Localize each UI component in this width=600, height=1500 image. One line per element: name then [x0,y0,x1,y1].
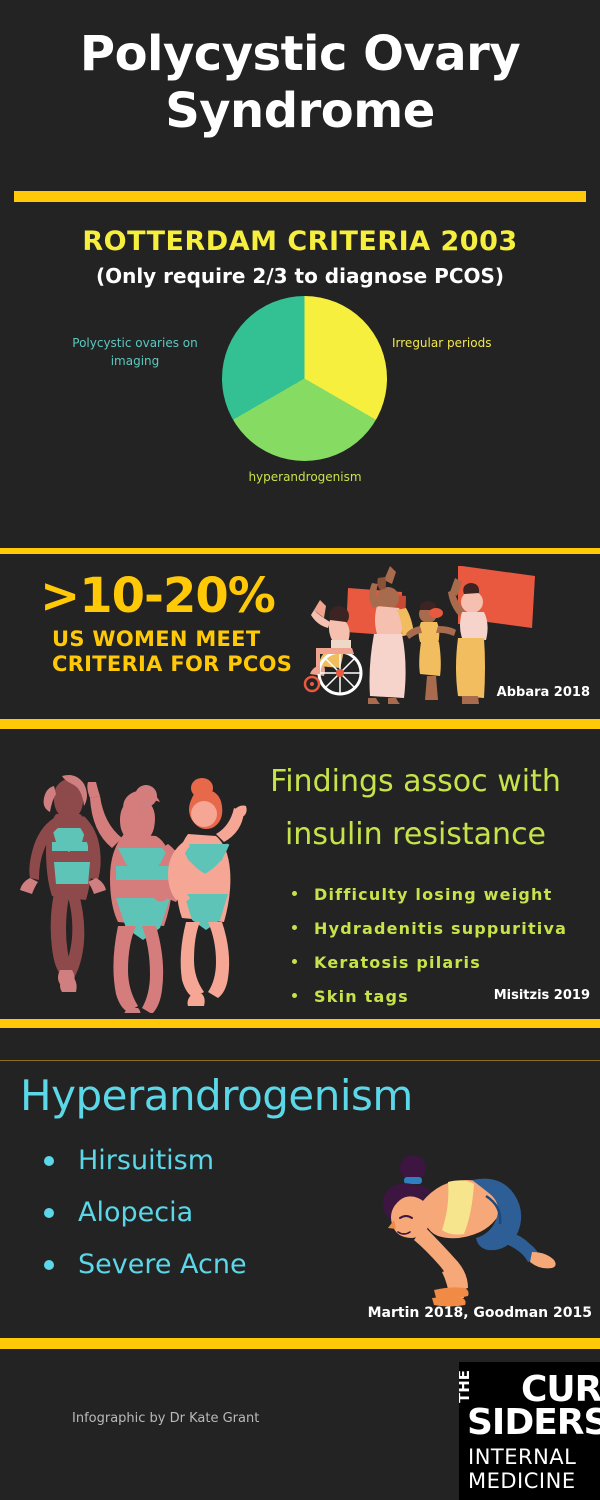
list-item: Hydradenitis suppuritiva [290,912,567,946]
curbsiders-logo: THE CURB SIDERS INTERNAL MEDICINE [459,1362,600,1500]
infographic-page: Polycystic Ovary Syndrome ROTTERDAM CRIT… [0,0,600,1500]
insulin-resistance-heading: Findings assoc with insulin resistance [238,755,593,861]
citation-abbara: Abbara 2018 [497,685,590,700]
insulin-heading-line-2: insulin resistance [238,808,593,861]
rotterdam-pie-chart [222,296,387,461]
logo-the-text: THE [459,1369,470,1403]
pie-label-polycystic-ovaries: Polycystic ovaries on imaging [50,334,220,370]
list-item-label: Skin tags [314,987,409,1006]
divider-bar-3 [0,719,600,729]
hyperandrogenism-list: Hirsuitism Alopecia Severe Acne [38,1135,247,1291]
list-item: Severe Acne [38,1239,247,1291]
list-item-label: Severe Acne [78,1249,247,1280]
rotterdam-heading: ROTTERDAM CRITERIA 2003 [0,226,600,257]
divider-thin-line [0,1060,600,1061]
title-line-1: Polycystic Ovary [0,26,600,83]
logo-siders-text: SIDERS [467,1406,600,1440]
citation-martin-goodman: Martin 2018, Goodman 2015 [368,1305,592,1321]
list-item-label: Difficulty losing weight [314,885,553,904]
bullet-icon [292,891,297,896]
divider-bar-5 [0,1338,600,1349]
stat-description-line-1: US WOMEN MEET [52,627,292,652]
list-item: Difficulty losing weight [290,878,567,912]
insulin-heading-line-1: Findings assoc with [238,755,593,808]
stat-percentage: >10-20% [40,570,275,622]
bullet-icon [44,1260,54,1270]
list-item: Hirsuitism [38,1135,247,1187]
stat-description: US WOMEN MEET CRITERIA FOR PCOS [52,627,292,677]
yoga-crow-pose-illustration [372,1122,582,1312]
dancing-women-illustration [12,758,257,1013]
divider-bar-1 [14,191,586,202]
divider-bar-4 [0,1019,600,1028]
logo-medicine-text: MEDICINE [468,1470,576,1493]
bullet-icon [44,1156,54,1166]
hyperandrogenism-heading: Hyperandrogenism [20,1073,413,1119]
page-title: Polycystic Ovary Syndrome [0,26,600,140]
logo-internal-text: INTERNAL [468,1446,576,1469]
bullet-icon [292,993,297,998]
byline: Infographic by Dr Kate Grant [72,1411,259,1426]
list-item-label: Hirsuitism [78,1145,214,1176]
list-item-label: Alopecia [78,1197,193,1228]
pie-label-irregular-periods: Irregular periods [392,334,522,352]
list-item-label: Keratosis pilaris [314,953,481,972]
stat-description-line-2: CRITERIA FOR PCOS [52,652,292,677]
divider-bar-2 [0,548,600,554]
citation-misitzis: Misitzis 2019 [494,988,590,1003]
list-item-label: Hydradenitis suppuritiva [314,919,567,938]
pie-label-hyperandrogenism: hyperandrogenism [180,468,430,486]
list-item: Alopecia [38,1187,247,1239]
bullet-icon [292,925,297,930]
list-item: Keratosis pilaris [290,946,567,980]
title-line-2: Syndrome [0,83,600,140]
bullet-icon [292,959,297,964]
bullet-icon [44,1208,54,1218]
rotterdam-subheading: (Only require 2/3 to diagnose PCOS) [0,264,600,288]
